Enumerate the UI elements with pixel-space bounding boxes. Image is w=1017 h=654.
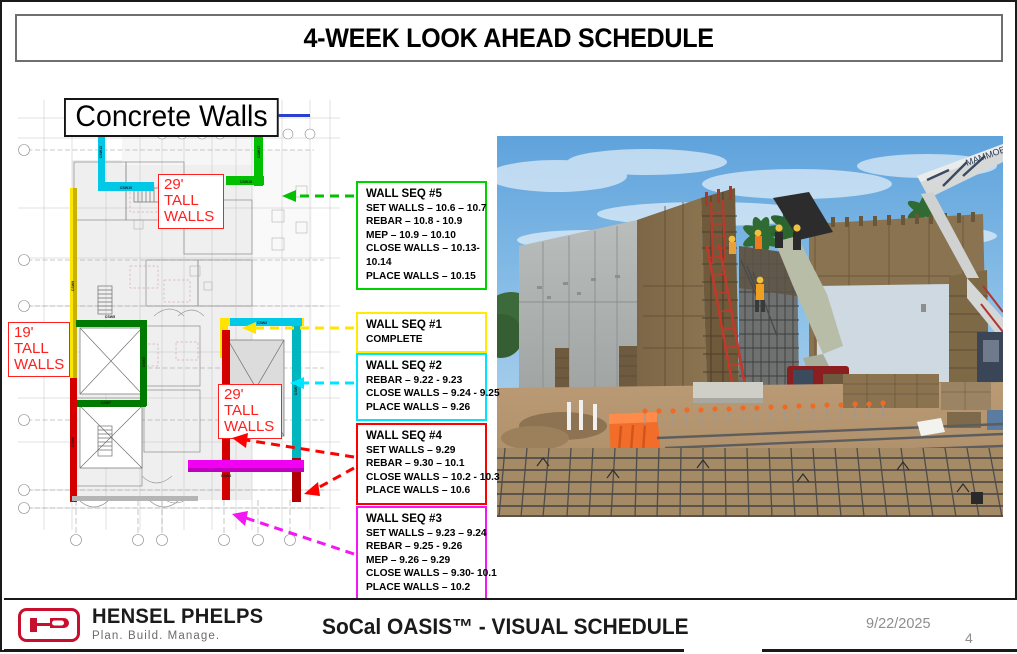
legend-box-wall-seq-2[interactable]: WALL SEQ #2 REBAR – 9.22 - 9.23 CLOSE WA… bbox=[356, 353, 487, 421]
legend-title: WALL SEQ #2 bbox=[366, 359, 479, 374]
legend-line: CLOSE WALLS – 9.24 - 9.25 bbox=[366, 387, 479, 401]
legend-box-wall-seq-1[interactable]: WALL SEQ #1 COMPLETE bbox=[356, 312, 487, 353]
legend-line: PLACE WALLS – 10.6 bbox=[366, 484, 479, 498]
legend-title: WALL SEQ #4 bbox=[366, 429, 479, 444]
legend-line: CLOSE WALLS – 9.30- 10.1 bbox=[366, 567, 479, 581]
legend-line: REBAR – 9.30 – 10.1 bbox=[366, 457, 479, 471]
svg-text:CSW1: CSW1 bbox=[294, 385, 298, 395]
svg-text:CSW5: CSW5 bbox=[105, 315, 115, 319]
svg-text:CSW3: CSW3 bbox=[142, 357, 146, 367]
legend-line: PLACE WALLS – 9.26 bbox=[366, 401, 479, 415]
legend-box-wall-seq-5[interactable]: WALL SEQ #5 SET WALLS – 10.6 – 10.7 REBA… bbox=[356, 181, 487, 290]
slide-title-bar: 4-WEEK LOOK AHEAD SCHEDULE bbox=[15, 14, 1003, 62]
legend-line: SET WALLS – 9.29 bbox=[366, 444, 479, 458]
legend-line: MEP – 9.26 – 9.29 bbox=[366, 554, 479, 568]
svg-text:CSW4: CSW4 bbox=[221, 474, 231, 478]
legend-line: PLACE WALLS – 10.15 bbox=[366, 270, 479, 284]
svg-text:CSW18: CSW18 bbox=[240, 180, 252, 184]
legend-line: REBAR – 9.25 - 9.26 bbox=[366, 540, 479, 554]
svg-text:CSW17: CSW17 bbox=[257, 146, 261, 158]
svg-text:CSW2: CSW2 bbox=[257, 321, 267, 325]
legend-line: COMPLETE bbox=[366, 333, 479, 347]
page-title: 4-WEEK LOOK AHEAD SCHEDULE bbox=[304, 23, 714, 54]
svg-text:CSW12: CSW12 bbox=[99, 146, 103, 158]
legend-line: 10.14 bbox=[366, 256, 479, 270]
hensel-phelps-logo-icon bbox=[18, 608, 80, 642]
svg-text:CSW10: CSW10 bbox=[120, 186, 132, 190]
company-name: HENSEL PHELPS bbox=[92, 606, 263, 628]
footer-title: SoCal OASIS™ - VISUAL SCHEDULE bbox=[322, 614, 689, 640]
callout-29ft-tall-walls-top: 29' TALL WALLS bbox=[158, 174, 224, 229]
legend-line: SET WALLS – 10.6 – 10.7 bbox=[366, 202, 479, 216]
svg-text:CSW8: CSW8 bbox=[71, 437, 75, 447]
legend-line: CLOSE WALLS – 10.2 - 10.3 bbox=[366, 471, 479, 485]
callout-29ft-tall-walls-mid: 29' TALL WALLS bbox=[218, 384, 282, 439]
legend-title: WALL SEQ #5 bbox=[366, 187, 479, 202]
slide-canvas: 4-WEEK LOOK AHEAD SCHEDULE bbox=[0, 0, 1017, 652]
svg-text:CSW7: CSW7 bbox=[101, 401, 111, 405]
callout-19ft-tall-walls: 19' TALL WALLS bbox=[8, 322, 70, 377]
svg-text:CSW9: CSW9 bbox=[71, 281, 75, 291]
legend-line: PLACE WALLS – 10.2 bbox=[366, 581, 479, 595]
legend-box-wall-seq-3[interactable]: WALL SEQ #3 SET WALLS – 9.23 – 9.24 REBA… bbox=[356, 506, 487, 602]
construction-site-photo: MAMMOET bbox=[497, 136, 1003, 517]
legend-line: REBAR – 9.22 - 9.23 bbox=[366, 374, 479, 388]
plan-caption: Concrete Walls bbox=[64, 98, 279, 137]
legend-title: WALL SEQ #1 bbox=[366, 318, 479, 333]
legend-line: CLOSE WALLS – 10.13- bbox=[366, 242, 479, 256]
legend-line: SET WALLS – 9.23 – 9.24 bbox=[366, 527, 479, 541]
legend-box-wall-seq-4[interactable]: WALL SEQ #4 SET WALLS – 9.29 REBAR – 9.3… bbox=[356, 423, 487, 505]
footer-date: 9/22/2025 bbox=[866, 616, 931, 632]
footer-page-number: 4 bbox=[965, 630, 973, 646]
company-tagline: Plan. Build. Manage. bbox=[92, 629, 271, 643]
legend-line: REBAR – 10.8 - 10.9 bbox=[366, 215, 479, 229]
legend-title: WALL SEQ #3 bbox=[366, 512, 479, 527]
hensel-phelps-wordmark: HENSEL PHELPS Plan. Build. Manage. bbox=[92, 606, 271, 643]
legend-line: MEP – 10.9 – 10.10 bbox=[366, 229, 479, 243]
